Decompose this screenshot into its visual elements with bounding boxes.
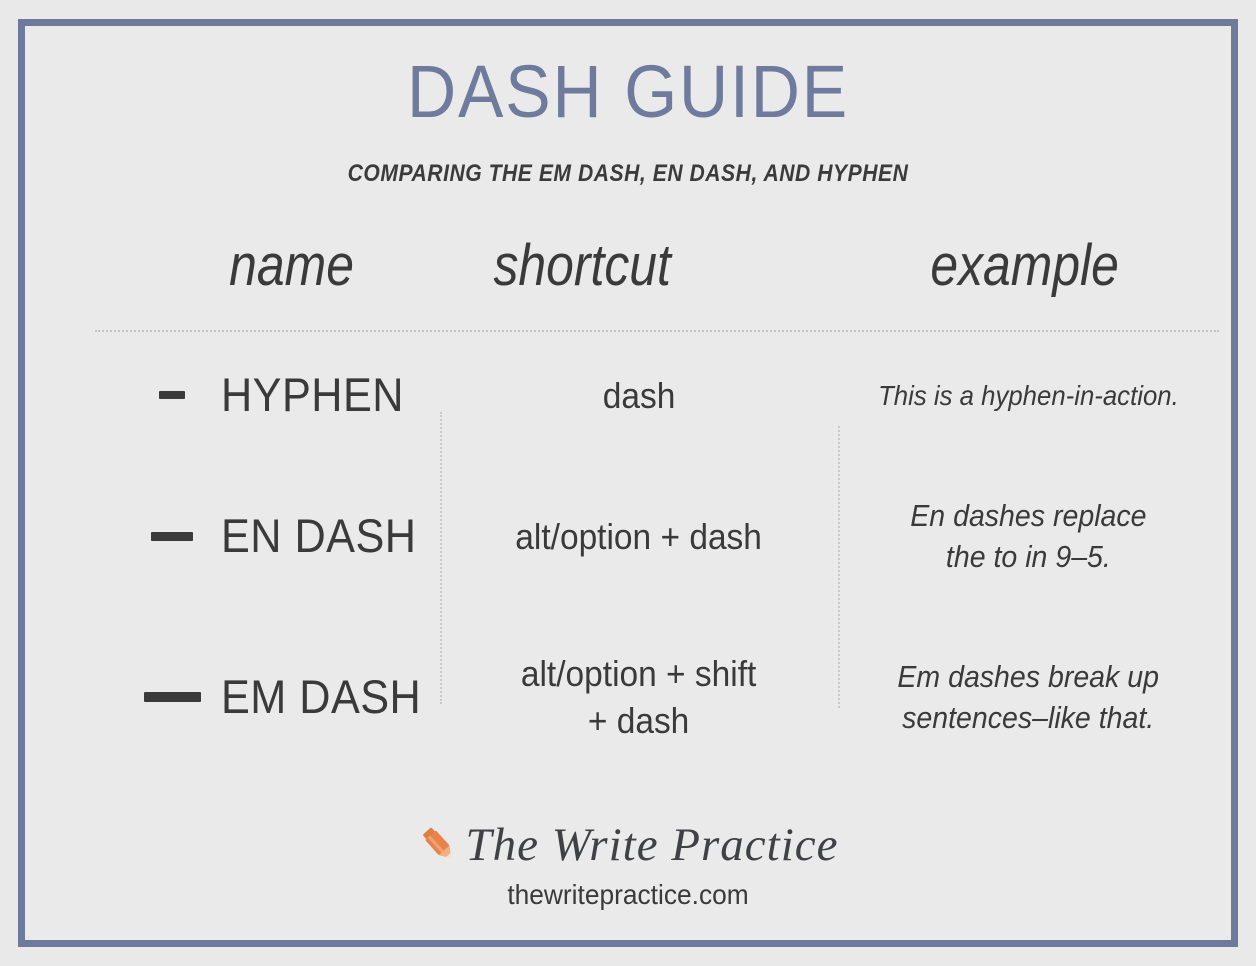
en-dash-glyph: [129, 532, 215, 541]
em-dash-glyph: [129, 692, 215, 702]
table-row: EN DASH alt/option + dash En dashes repl…: [25, 466, 1231, 606]
shortcut-label: dash: [603, 372, 676, 419]
page-title: DASH GUIDE: [73, 52, 1183, 132]
table-row: HYPHEN dash This is a hyphen-in-action.: [25, 342, 1231, 448]
page-subtitle: COMPARING THE EM DASH, EN DASH, AND HYPH…: [97, 160, 1158, 188]
pencil-icon: [417, 823, 461, 867]
row-shortcut-cell: alt/option + shift + dash: [440, 622, 838, 772]
dash-name-label: HYPHEN: [221, 369, 404, 421]
row-name-cell: EM DASH: [25, 622, 440, 772]
column-header-shortcut: shortcut: [493, 231, 670, 301]
example-label: Em dashes break up sentences–like that.: [898, 656, 1160, 738]
column-header-row: name shortcut example: [85, 231, 1191, 317]
dash-name-label: EM DASH: [221, 671, 421, 723]
row-name-cell: HYPHEN: [25, 342, 440, 448]
hyphen-glyph: [129, 391, 215, 399]
shortcut-label: alt/option + dash: [516, 513, 763, 560]
shortcut-label: alt/option + shift + dash: [521, 650, 756, 744]
row-shortcut-cell: alt/option + dash: [440, 466, 838, 606]
footer: The Write Practice thewritepractice.com: [25, 814, 1231, 912]
header-divider: [95, 330, 1219, 332]
brand-lockup: The Write Practice: [25, 814, 1231, 876]
row-name-cell: EN DASH: [25, 466, 440, 606]
row-example-cell: This is a hyphen-in-action.: [838, 342, 1219, 448]
example-label: En dashes replace the to in 9–5.: [910, 495, 1146, 577]
dash-name-label: EN DASH: [221, 510, 416, 562]
brand-name: The Write Practice: [465, 819, 838, 871]
column-header-name: name: [229, 231, 354, 301]
row-example-cell: En dashes replace the to in 9–5.: [838, 466, 1219, 606]
row-example-cell: Em dashes break up sentences–like that.: [838, 622, 1219, 772]
poster-content: DASH GUIDE COMPARING THE EM DASH, EN DAS…: [25, 26, 1231, 940]
brand-url: thewritepractice.com: [61, 878, 1195, 912]
row-shortcut-cell: dash: [440, 342, 838, 448]
poster-frame: DASH GUIDE COMPARING THE EM DASH, EN DAS…: [18, 19, 1238, 947]
example-label: This is a hyphen-in-action.: [878, 375, 1179, 416]
table-row: EM DASH alt/option + shift + dash Em das…: [25, 622, 1231, 772]
column-header-example: example: [930, 231, 1119, 301]
dash-guide-poster: DASH GUIDE COMPARING THE EM DASH, EN DAS…: [0, 0, 1256, 966]
